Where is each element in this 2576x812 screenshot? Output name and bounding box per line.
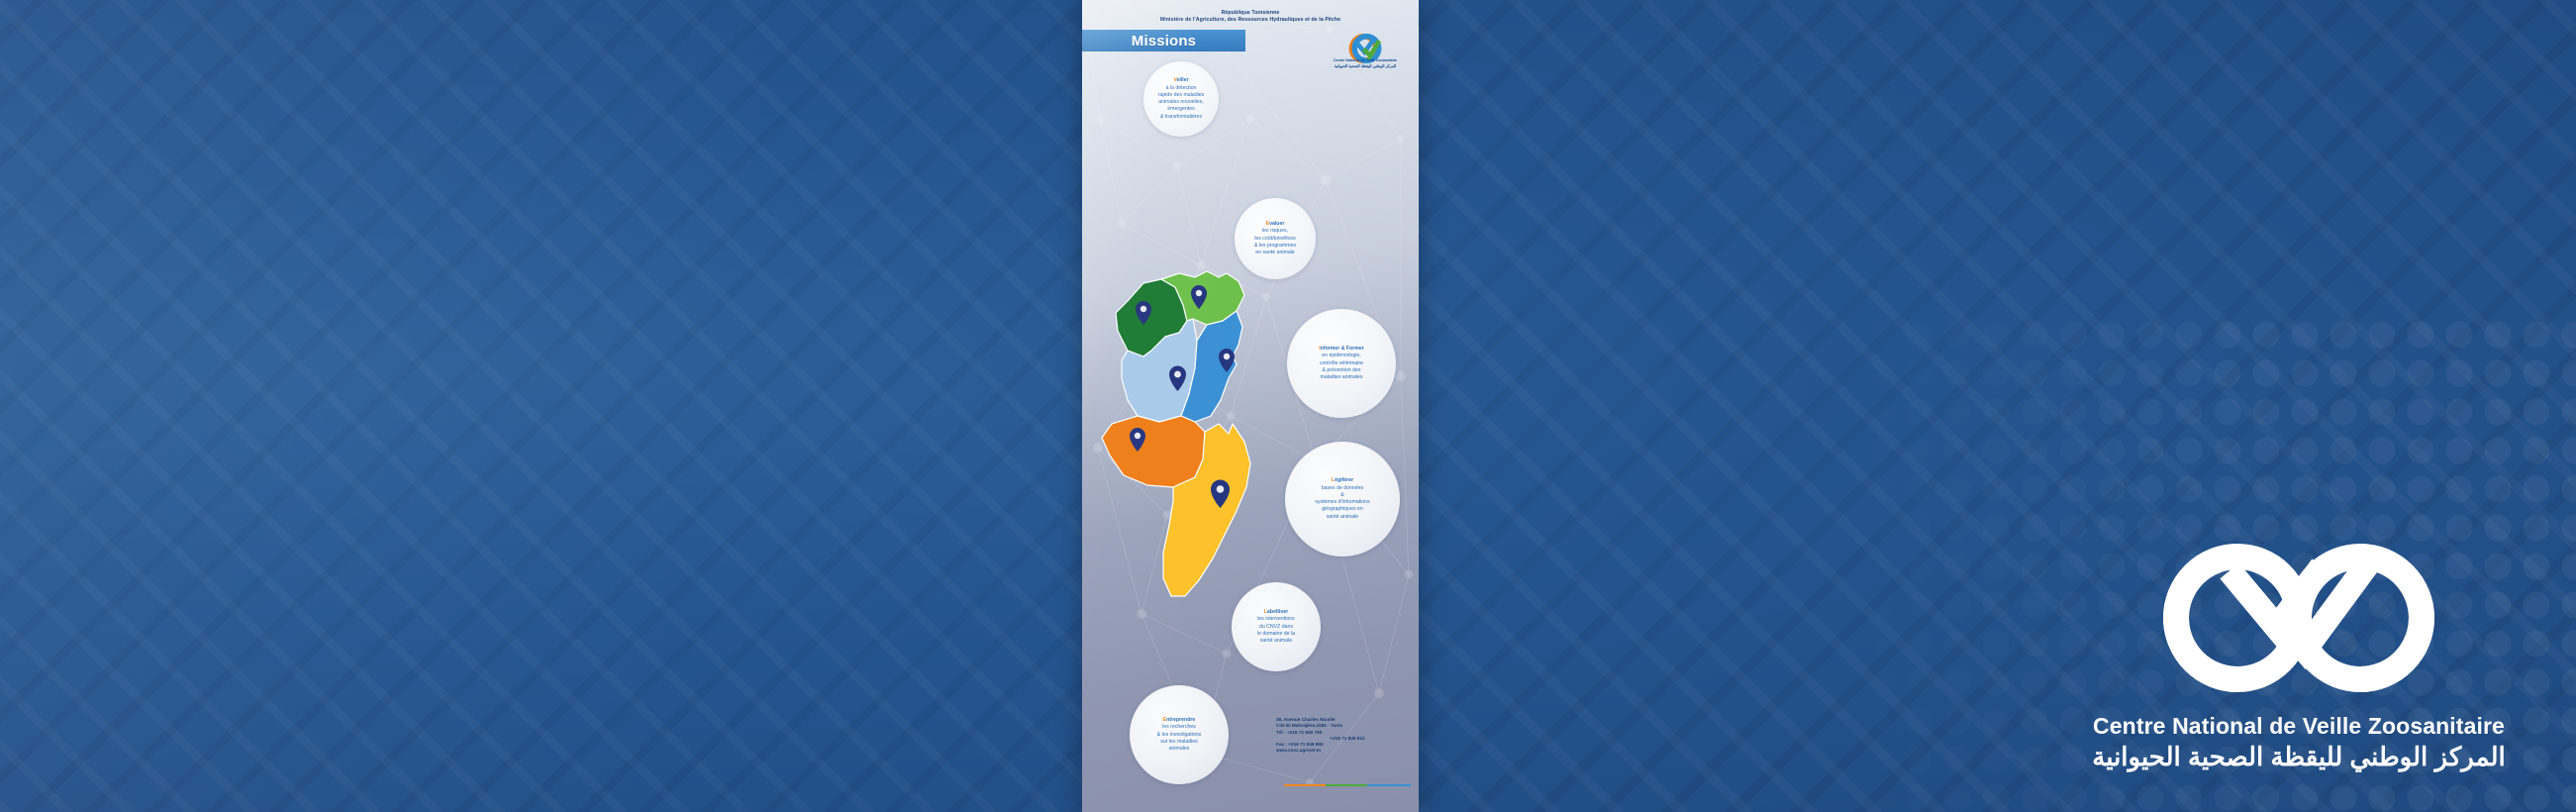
footer-bar-blue — [1367, 784, 1411, 786]
mission-bubble-evaluer: Evaluer les risques,les coût/bénéfices& … — [1235, 198, 1316, 279]
brand-lockup: Centre National de Veille Zoosanitaire ا… — [2091, 533, 2507, 772]
mission-heading-informer: Informer & Former — [1319, 346, 1364, 353]
mission-bubble-labelliser: Labelliser les interventionsdu CNVZ dans… — [1232, 582, 1321, 671]
mission-bubble-legiferer: Légiférer bases de données&systèmes d'in… — [1285, 442, 1400, 557]
contact-block: 38, Avenue Charles Nicolle Cité El Mahra… — [1276, 717, 1419, 755]
ministry-header: République Tunisienne Ministère de l'Agr… — [1082, 10, 1419, 25]
mission-body-entreprendre: les recherches& les investigationssur le… — [1157, 724, 1201, 752]
mission-bubble-entreprendre: Entreprendre les recherches& les investi… — [1130, 685, 1229, 784]
ministry-line-1: République Tunisienne — [1082, 10, 1419, 17]
cnvz-logo-caption-ar: المركز الوطني لليقظة الصحية الحيوانية — [1318, 63, 1413, 68]
mission-bubble-veiller: Veiller à la détectionrapide des maladie… — [1143, 61, 1219, 137]
mission-heading-labelliser: Labelliser — [1257, 609, 1295, 616]
page-title: Missions — [1132, 33, 1196, 50]
mission-heading-veiller: Veiller — [1158, 77, 1204, 84]
footer-bar-green — [1326, 784, 1367, 786]
missions-title-bar: Missions — [1082, 30, 1245, 51]
page-root: République Tunisienne Ministère de l'Agr… — [0, 0, 2576, 812]
mission-heading-evaluer: Evaluer — [1254, 221, 1296, 228]
brand-name-ar: المركز الوطني لليقظة الصحية الحيوانية — [2091, 742, 2507, 772]
footer-bar-orange — [1284, 784, 1326, 786]
mission-body-informer: en épidémologie,contrôle vétérinaire& pr… — [1320, 353, 1363, 380]
tunisia-map-svg — [1088, 265, 1286, 628]
tunisia-regions-map — [1088, 265, 1286, 628]
cnvz-infinity-logo-icon — [2101, 533, 2497, 703]
background-texture-left — [0, 0, 1082, 812]
mission-body-evaluer: les risques,les coût/bénéfices& les prog… — [1254, 228, 1296, 255]
ministry-line-2: Ministère de l'Agriculture, des Ressourc… — [1082, 17, 1419, 24]
brand-name-fr: Centre National de Veille Zoosanitaire — [2091, 713, 2507, 740]
footer-color-bars — [1284, 784, 1411, 786]
mission-body-legiferer: bases de données&systèmes d'informations… — [1315, 485, 1369, 520]
cnvz-logo-caption: Centre National de Veille Zoosanitaire ا… — [1318, 58, 1413, 68]
missions-poster: République Tunisienne Ministère de l'Agr… — [1082, 0, 1419, 812]
mission-heading-legiferer: Légiférer — [1315, 477, 1369, 484]
mission-bubble-informer: Informer & Former en épidémologie,contrô… — [1287, 309, 1396, 418]
mission-body-labelliser: les interventionsdu CNVZ dansle domaine … — [1257, 616, 1295, 644]
map-region-sud-ouest — [1102, 416, 1205, 487]
mission-heading-entreprendre: Entreprendre — [1157, 717, 1201, 724]
contact-website[interactable]: www.cnvz.agrinet.tn — [1276, 748, 1419, 754]
mission-body-veiller: à la détectionrapide des maladiesanimale… — [1158, 85, 1204, 120]
